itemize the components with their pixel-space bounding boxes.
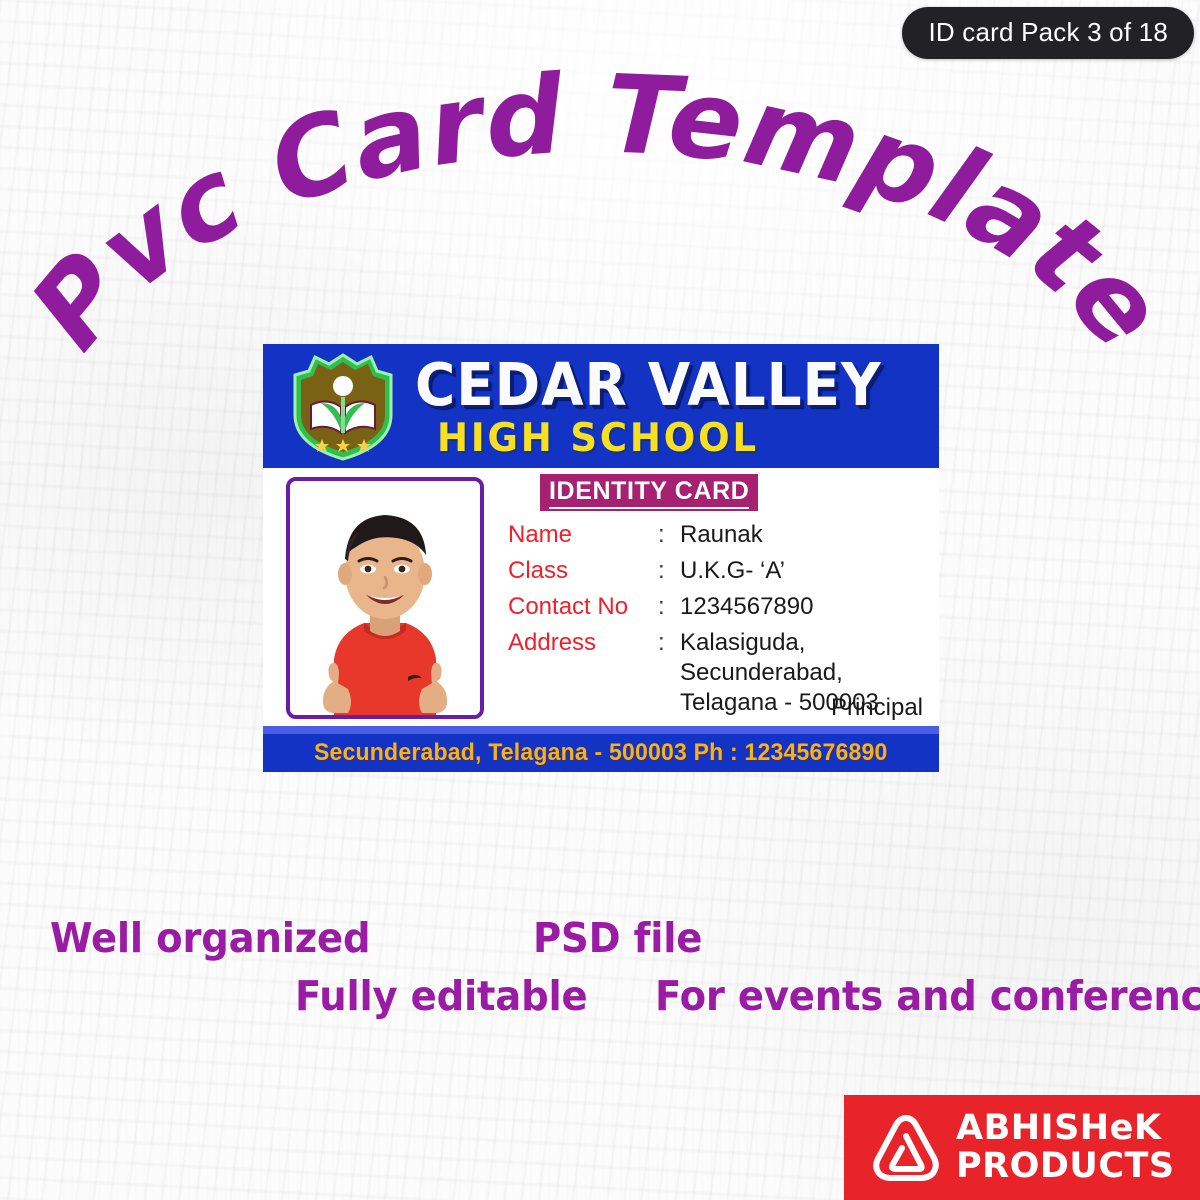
field-row-contact: Contact No : 1234567890	[508, 592, 879, 628]
poster-canvas: ID card Pack 3 of 18 Pvc Card Template	[0, 0, 1200, 1200]
footer-address-text: Secunderabad, Telagana - 500003 Ph : 123…	[314, 739, 888, 767]
field-colon-address: :	[658, 628, 680, 724]
field-value-name: Raunak	[680, 520, 879, 556]
feature-item-well-organized: Well organized	[50, 914, 370, 962]
school-name-primary: CEDAR VALLEY	[415, 355, 895, 415]
identity-card-title: IDENTITY CARD	[540, 474, 758, 511]
principal-signature-label: Principal	[831, 694, 923, 722]
brand-name-line2: PRODUCTS	[956, 1149, 1175, 1184]
brand-wordmark: ABHISHeK PRODUCTS	[956, 1111, 1175, 1184]
school-name-secondary: HIGH SCHOOL	[437, 419, 906, 458]
arched-title: Pvc Card Template	[0, 108, 1200, 368]
footer-bar: Secunderabad, Telagana - 500003 Ph : 123…	[263, 734, 939, 772]
field-value-class: U.K.G- ‘A’	[680, 556, 879, 592]
field-label-name: Name	[508, 520, 658, 556]
id-card-footer: Secunderabad, Telagana - 500003 Ph : 123…	[263, 726, 939, 772]
brand-name-line1: ABHISHeK	[956, 1111, 1175, 1146]
address-line-2: Secunderabad,	[680, 658, 879, 688]
field-colon-name: :	[658, 520, 680, 556]
school-shield-emblem-icon	[291, 353, 395, 461]
school-name-block: CEDAR VALLEY HIGH SCHOOL	[415, 348, 931, 458]
identity-card-title-text: IDENTITY CARD	[549, 477, 749, 509]
field-colon-contact: :	[658, 592, 680, 628]
brand-block: ABHISHeK PRODUCTS	[844, 1095, 1200, 1200]
footer-accent-strip	[263, 726, 939, 734]
field-label-address: Address	[508, 628, 658, 724]
student-photo	[286, 477, 484, 719]
id-card-body: IDENTITY CARD Name : Raunak Class : U.K.…	[263, 468, 939, 726]
pack-count-badge: ID card Pack 3 of 18	[902, 7, 1194, 59]
student-fields-table: Name : Raunak Class : U.K.G- ‘A’ Contact…	[508, 520, 879, 724]
field-row-class: Class : U.K.G- ‘A’	[508, 556, 879, 592]
field-colon-class: :	[658, 556, 680, 592]
field-value-contact: 1234567890	[680, 592, 879, 628]
address-line-1: Kalasiguda,	[680, 628, 879, 658]
feature-item-fully-editable: Fully editable	[295, 972, 587, 1020]
field-label-class: Class	[508, 556, 658, 592]
feature-item-events-conferences: For events and conferences	[655, 972, 1200, 1020]
id-card-header: CEDAR VALLEY HIGH SCHOOL	[263, 344, 939, 468]
field-label-contact: Contact No	[508, 592, 658, 628]
field-row-address: Address : Kalasiguda, Secunderabad, Tela…	[508, 628, 879, 724]
id-card: CEDAR VALLEY HIGH SCHOOL	[263, 344, 939, 772]
field-row-name: Name : Raunak	[508, 520, 879, 556]
id-card-details: IDENTITY CARD Name : Raunak Class : U.K.…	[508, 468, 939, 724]
abhishek-triangle-logo-icon	[866, 1108, 946, 1188]
feature-item-psd-file: PSD file	[533, 914, 702, 962]
feature-list: Well organized PSD file Fully editable F…	[0, 900, 1200, 1030]
